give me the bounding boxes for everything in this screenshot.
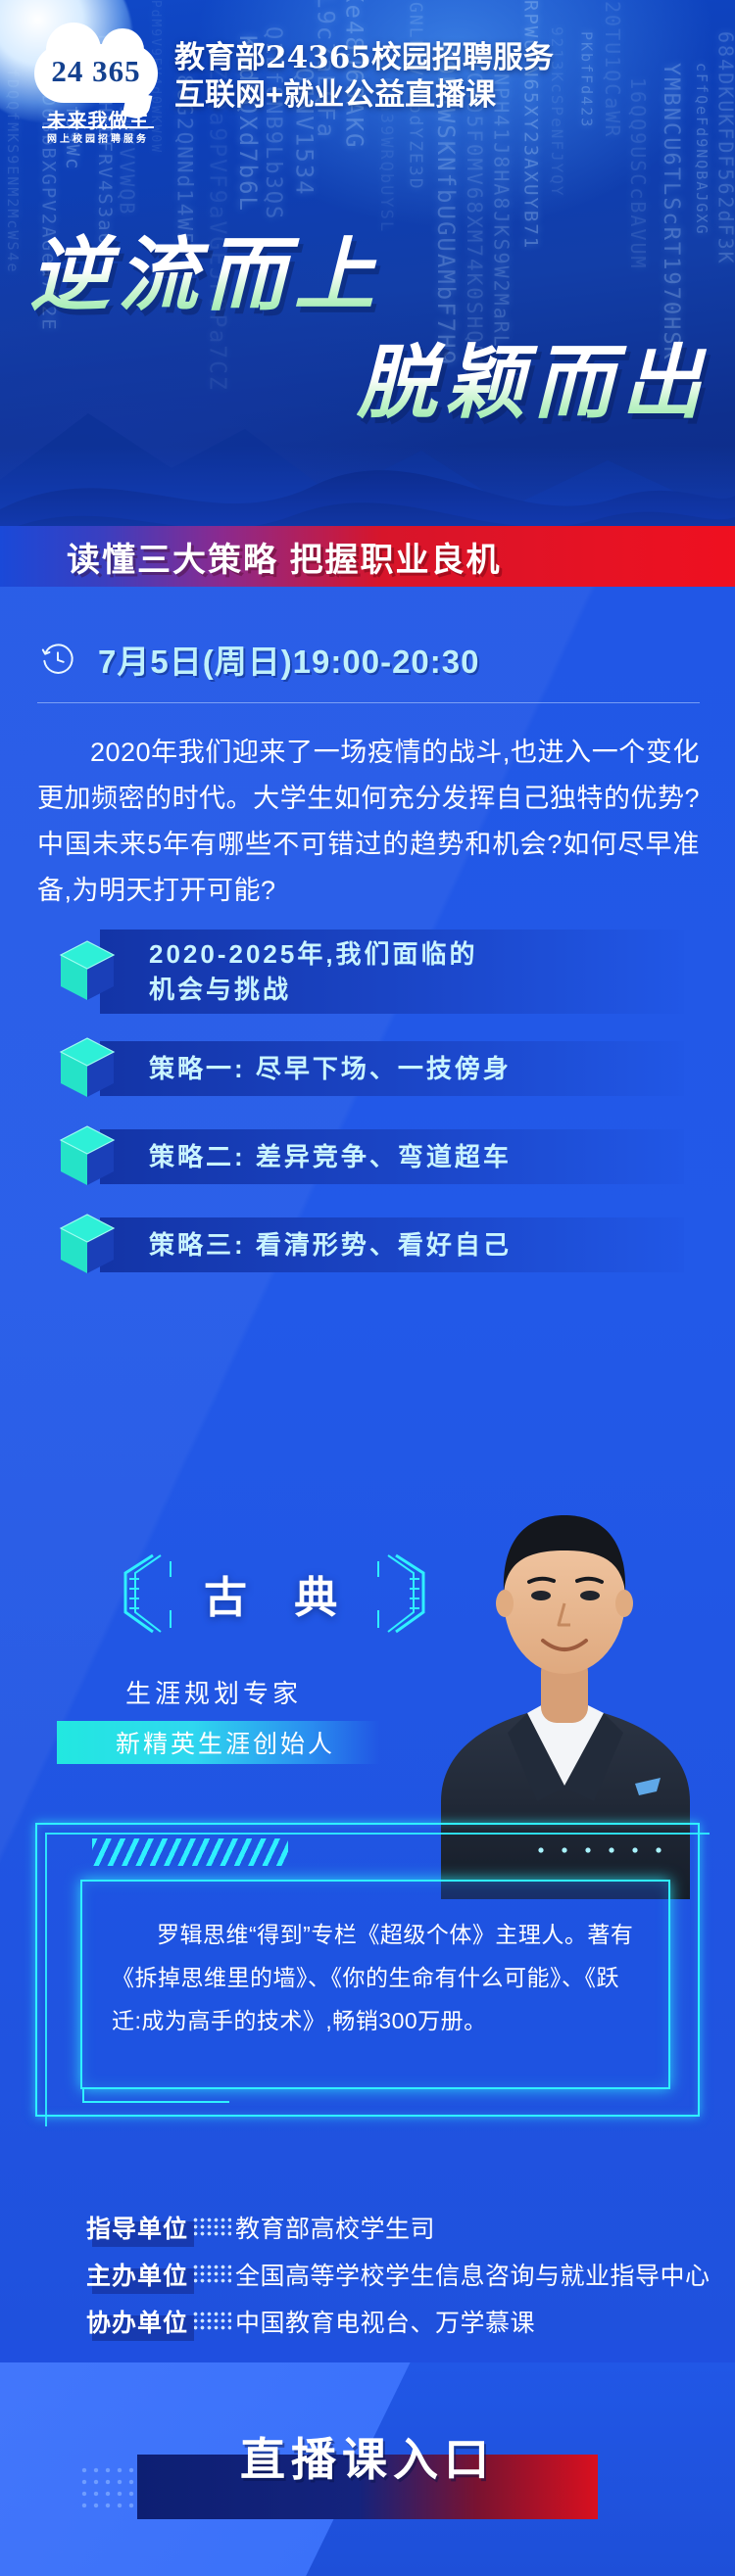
red-banner: 读懂三大策略 把握职业良机 [0, 526, 735, 587]
poster-root: fDQQfMKS9ENM2McWS4eWEDTD6BbBXGPV2AGea7W2… [0, 0, 735, 2576]
strategy-item[interactable]: 策略一: 尽早下场、一技傍身 [57, 1035, 684, 1102]
credit-dot-separator [192, 2264, 231, 2285]
schedule-text: 7月5日(周日)19:00-20:30 [98, 636, 479, 683]
credit-row: 指导单位 教育部高校学生司 [86, 2204, 735, 2251]
hatch-decoration [92, 1838, 288, 1866]
credit-row: 协办单位 中国教育电视台、万学慕课 [86, 2298, 735, 2345]
speaker-role: 生涯规划专家 [125, 1674, 302, 1710]
matrix-column: NPH41J8HA8JKS9W2MaRL [489, 73, 514, 349]
credits-section: 指导单位 教育部高校学生司 主办单位 全国高等学校学生信息咨询与就业指导中心 协… [0, 2204, 735, 2345]
credit-label-wrap: 协办单位 [86, 2304, 188, 2339]
strategy-item[interactable]: 策略三: 看清形势、看好自己 [57, 1212, 684, 1278]
dot-decoration [529, 1844, 662, 1856]
credit-dot-separator [192, 2217, 231, 2238]
credit-value: 全国高等学校学生信息咨询与就业指导中心 [235, 2257, 710, 2292]
header-title-line1: 教育部24365校园招聘服务 [174, 39, 723, 76]
strategy-text: 策略三: 看清形势、看好自己 [149, 1227, 512, 1263]
strategy-line1: 策略三: 看清形势、看好自己 [149, 1230, 512, 1260]
cta-label: 直播课入口 [137, 2429, 598, 2490]
credit-label: 协办单位 [86, 2310, 188, 2337]
header-title: 教育部24365校园招聘服务 互联网+就业公益直播课 [174, 39, 723, 114]
headline-line1: 逆流而上 [29, 231, 382, 321]
cube-icon [57, 1124, 118, 1189]
credit-label: 指导单位 [86, 2216, 188, 2243]
bio-inner-frame: 罗辑思维“得到”专栏《超级个体》主理人。著有《拆掉思维里的墙》、《你的生命有什么… [80, 1880, 670, 2089]
cube-icon [57, 1213, 118, 1277]
logo-number: 24 365 [34, 54, 158, 89]
cube-icon [57, 939, 118, 1004]
strategy-text: 2020-2025年,我们面临的 机会与挑战 [149, 936, 478, 1007]
logo-subtitle: 网上校园招聘服务 [34, 130, 162, 145]
credit-label: 主办单位 [86, 2263, 188, 2290]
speaker-section: 古 典 生涯规划专家 新精英生涯创始人 [0, 1351, 735, 1899]
credit-label-wrap: 指导单位 [86, 2210, 188, 2245]
credit-dot-separator [192, 2311, 231, 2332]
speaker-name-row: 古 典 [110, 1551, 439, 1636]
footer-section: 直播课入口 [0, 2362, 735, 2576]
clock-icon [39, 641, 76, 678]
strategy-line2: 机会与挑战 [149, 972, 478, 1007]
hero-section: fDQQfMKS9ENM2McWS4eWEDTD6BbBXGPV2AGea7W2… [0, 0, 735, 612]
credit-row: 主办单位 全国高等学校学生信息咨询与就业指导中心 [86, 2251, 735, 2298]
red-banner-text: 读懂三大策略 把握职业良机 [67, 533, 501, 581]
intro-paragraph: 2020年我们迎来了一场疫情的战斗,也进入一个变化更加频密的时代。大学生如何充分… [37, 730, 700, 914]
speaker-org: 新精英生涯创始人 [116, 1725, 335, 1760]
credit-label-wrap: 主办单位 [86, 2257, 188, 2292]
cube-icon [57, 1036, 118, 1101]
bracket-left-decoration [110, 1551, 178, 1636]
logo-rule [42, 126, 154, 128]
logo-tagline: 未来我做主 [34, 105, 162, 133]
strategy-line1: 2020-2025年,我们面临的 [149, 939, 478, 969]
logo-24365: 24 365 未来我做主 网上校园招聘服务 [34, 32, 162, 135]
headline-line2: 脱颖而出 [357, 339, 710, 429]
strategy-item[interactable]: 策略二: 差异竞争、弯道超车 [57, 1123, 684, 1190]
speaker-bio-text: 罗辑思维“得到”专栏《超级个体》主理人。著有《拆掉思维里的墙》、《你的生命有什么… [112, 1913, 639, 2042]
speaker-org-bar: 新精英生涯创始人 [57, 1721, 380, 1764]
bio-corner-decoration [82, 2087, 229, 2103]
credit-value: 中国教育电视台、万学慕课 [235, 2304, 535, 2339]
body-section: 7月5日(周日)19:00-20:30 2020年我们迎来了一场疫情的战斗,也进… [0, 587, 735, 2340]
bracket-right-decoration [370, 1551, 439, 1636]
speaker-bio-panel: 罗辑思维“得到”专栏《超级个体》主理人。著有《拆掉思维里的墙》、《你的生命有什么… [35, 1823, 700, 2117]
strategy-line1: 策略一: 尽早下场、一技傍身 [149, 1054, 512, 1083]
live-entry-button[interactable]: 直播课入口 [137, 2429, 598, 2519]
section-divider [37, 702, 700, 703]
matrix-column: aURPWU7N65XY23AXUYB71 [517, 0, 543, 250]
strategy-text: 策略二: 差异竞争、弯道超车 [149, 1139, 512, 1174]
header-title-line2: 互联网+就业公益直播课 [174, 76, 723, 114]
strategy-item[interactable]: 2020-2025年,我们面临的 机会与挑战 [57, 930, 684, 1014]
speaker-name: 古 典 [194, 1562, 355, 1625]
strategy-line1: 策略二: 差异竞争、弯道超车 [149, 1142, 512, 1171]
credit-value: 教育部高校学生司 [235, 2210, 435, 2245]
cta-dot-decoration [78, 2464, 143, 2511]
schedule-row: 7月5日(周日)19:00-20:30 [39, 636, 479, 683]
strategy-list: 2020-2025年,我们面临的 机会与挑战 策略一: 尽早下场、一技傍身 策略… [57, 930, 684, 1300]
strategy-text: 策略一: 尽早下场、一技傍身 [149, 1051, 512, 1086]
